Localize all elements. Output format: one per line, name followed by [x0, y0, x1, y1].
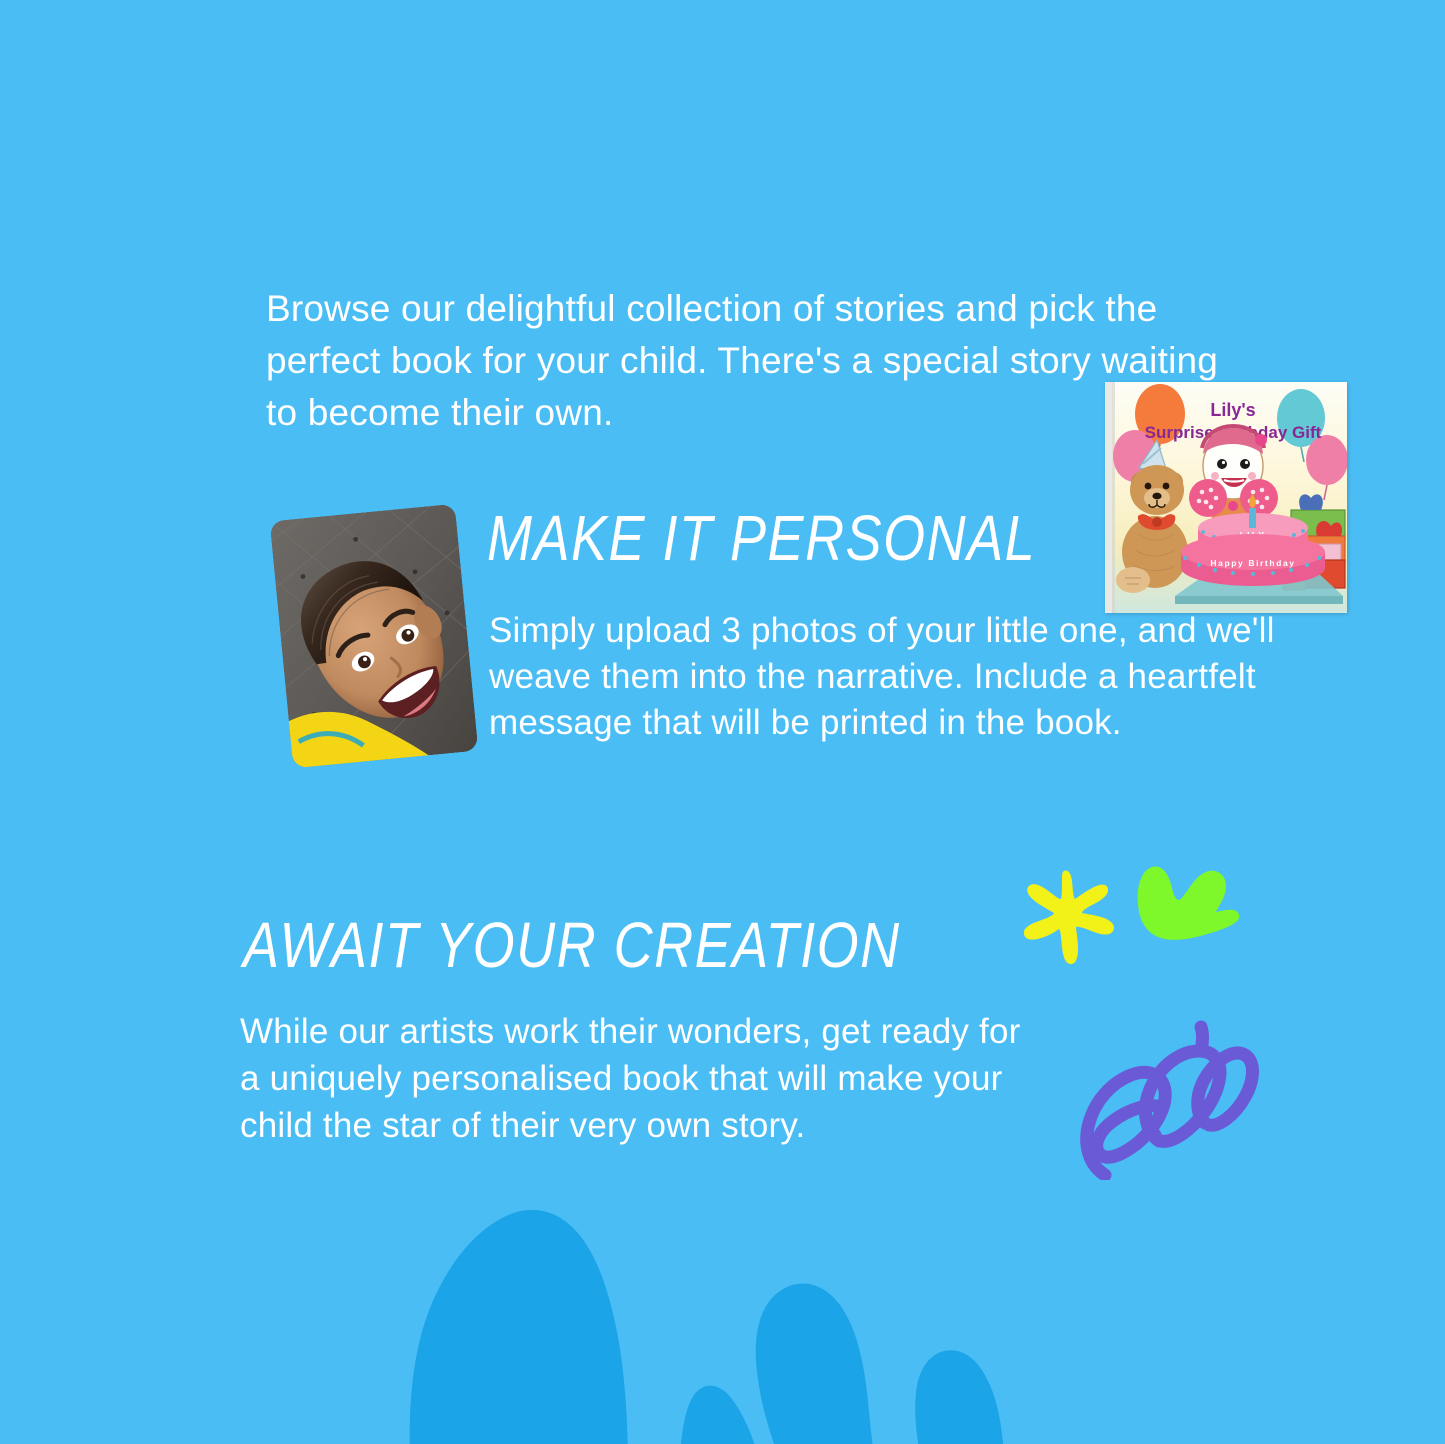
intro-paragraph: Browse our delightful collection of stor…	[266, 283, 1226, 439]
cake-message: Happy Birthday	[1210, 558, 1295, 568]
book-cover: Lily's Surprise Birthday Gift	[1105, 382, 1347, 613]
book-title-line1: Lily's	[1210, 400, 1255, 420]
child-photo	[270, 504, 479, 769]
section-heading-await-your-creation: AWAIT YOUR CREATION	[243, 909, 901, 982]
section-paragraph-await-your-creation: While our artists work their wonders, ge…	[240, 1008, 1030, 1149]
section-heading-make-it-personal: MAKE IT PERSONAL	[487, 502, 1036, 575]
section-paragraph-make-it-personal: Simply upload 3 photos of your little on…	[489, 608, 1279, 746]
bird-doodle	[1124, 862, 1239, 962]
star-doodle	[1012, 865, 1127, 980]
bottom-brush-doodle	[380, 1195, 1060, 1444]
poster-canvas: Browse our delightful collection of stor…	[0, 0, 1445, 1444]
scribble-doodle	[1053, 975, 1268, 1180]
